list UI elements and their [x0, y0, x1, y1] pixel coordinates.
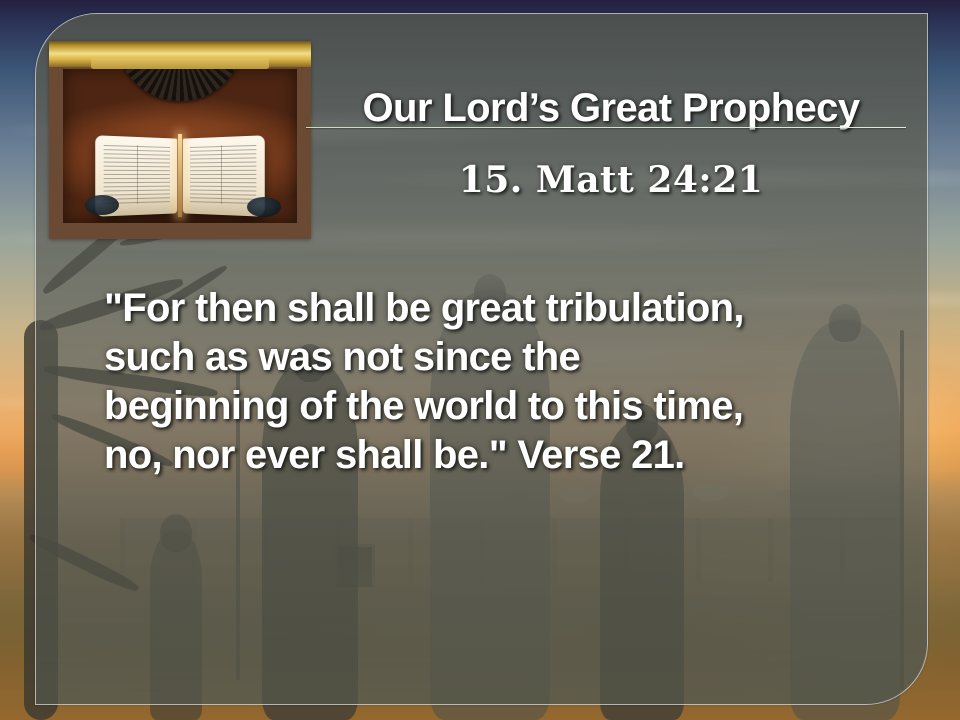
book-spine-glow	[178, 134, 182, 217]
dark-fan-object	[117, 69, 243, 101]
gold-banner	[49, 41, 311, 67]
presentation-slide: Our Lord’s Great Prophecy 15. Matt 24:21…	[0, 0, 960, 720]
table-object-right	[247, 197, 281, 217]
slide-content-panel: Our Lord’s Great Prophecy 15. Matt 24:21…	[35, 13, 928, 705]
open-book-icon	[96, 137, 264, 215]
bible-image	[49, 41, 311, 239]
verse-line: "For then shall be great tribulation,	[104, 284, 904, 333]
verse-text: "For then shall be great tribulation, su…	[104, 284, 904, 480]
slide-title: Our Lord’s Great Prophecy	[306, 88, 916, 128]
verse-line: no, nor ever shall be." Verse 21.	[104, 431, 904, 480]
bible-photo-inner	[63, 69, 297, 223]
table-object-left	[85, 195, 119, 215]
scripture-reference: 15. Matt 24:21	[306, 162, 916, 198]
verse-line: such as was not since the	[104, 333, 904, 382]
title-divider	[306, 127, 906, 128]
verse-line: beginning of the world to this time,	[104, 382, 904, 431]
